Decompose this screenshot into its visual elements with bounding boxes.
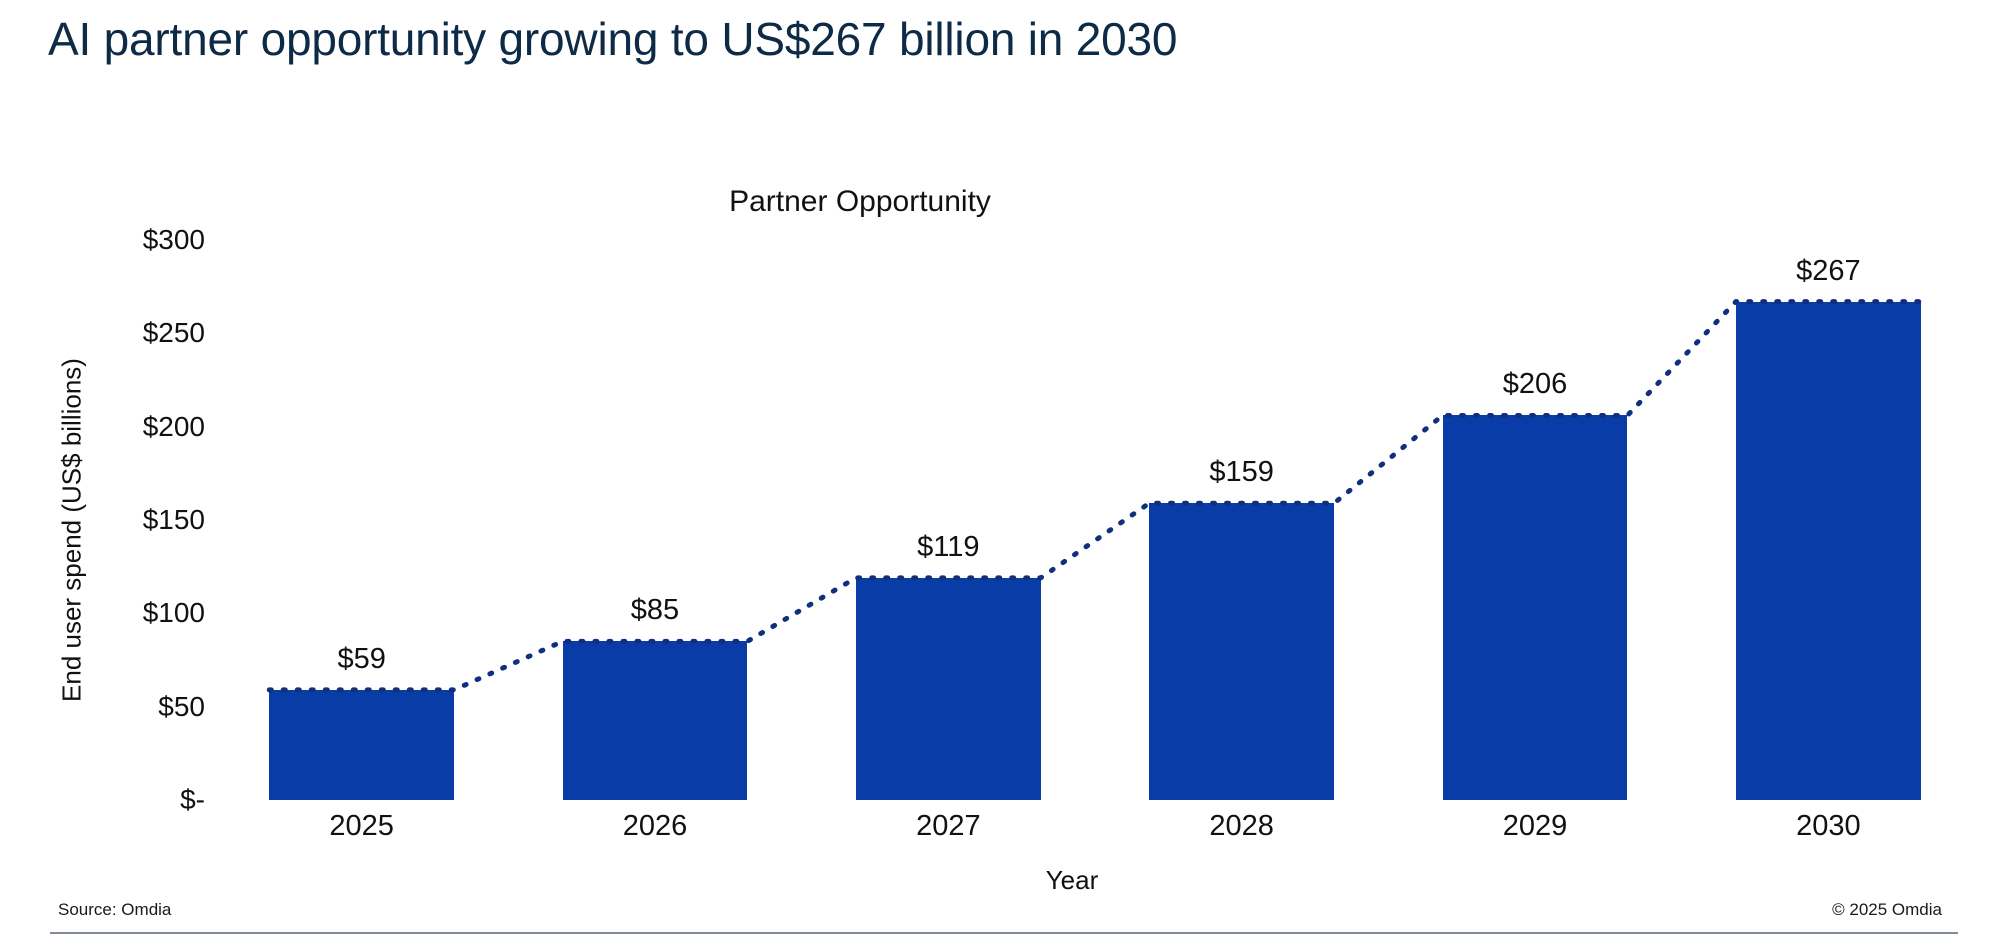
bar-value-label: $267 [1736, 255, 1921, 288]
plot-area: $592025$852026$1192027$1592028$2062029$2… [215, 240, 1975, 800]
x-axis-tick-label: 2026 [563, 810, 748, 843]
x-axis-title: Year [1046, 865, 1099, 896]
x-axis-tick-label: 2025 [269, 810, 454, 843]
bar-group: $592025 [269, 240, 454, 800]
bar-group: $1592028 [1149, 240, 1334, 800]
y-axis-tick-label: $150 [45, 504, 205, 536]
bar-2025[interactable] [269, 690, 454, 800]
bar-group: $852026 [563, 240, 748, 800]
bar-2026[interactable] [563, 641, 748, 800]
bar-group: $1192027 [856, 240, 1041, 800]
bar-2027[interactable] [856, 578, 1041, 800]
y-axis-tick-label: $- [45, 784, 205, 816]
y-axis-tick-label: $200 [45, 411, 205, 443]
y-axis-tick-label: $300 [45, 224, 205, 256]
bar-2029[interactable] [1443, 415, 1628, 800]
y-axis-tick-label: $50 [45, 691, 205, 723]
x-axis-tick-label: 2030 [1736, 810, 1921, 843]
source-note: Source: Omdia [58, 900, 171, 920]
chart-container: Partner Opportunity End user spend (US$ … [0, 0, 2000, 900]
y-axis-tick-label: $250 [45, 317, 205, 349]
bar-value-label: $206 [1443, 368, 1628, 401]
bar-group: $2672030 [1736, 240, 1921, 800]
bar-group: $2062029 [1443, 240, 1628, 800]
bar-value-label: $119 [856, 531, 1041, 564]
footer-divider [50, 932, 1958, 934]
y-axis-ticks: $300$250$200$150$100$50$- [20, 0, 205, 900]
x-axis-tick-label: 2029 [1443, 810, 1628, 843]
copyright-note: © 2025 Omdia [1832, 900, 1942, 920]
bar-value-label: $85 [563, 594, 748, 627]
x-axis-tick-label: 2028 [1149, 810, 1334, 843]
chart-title: Partner Opportunity [729, 185, 991, 219]
bar-2030[interactable] [1736, 302, 1921, 800]
bar-value-label: $159 [1149, 456, 1334, 489]
x-axis-tick-label: 2027 [856, 810, 1041, 843]
bar-value-label: $59 [269, 643, 454, 676]
bar-2028[interactable] [1149, 503, 1334, 800]
y-axis-tick-label: $100 [45, 597, 205, 629]
